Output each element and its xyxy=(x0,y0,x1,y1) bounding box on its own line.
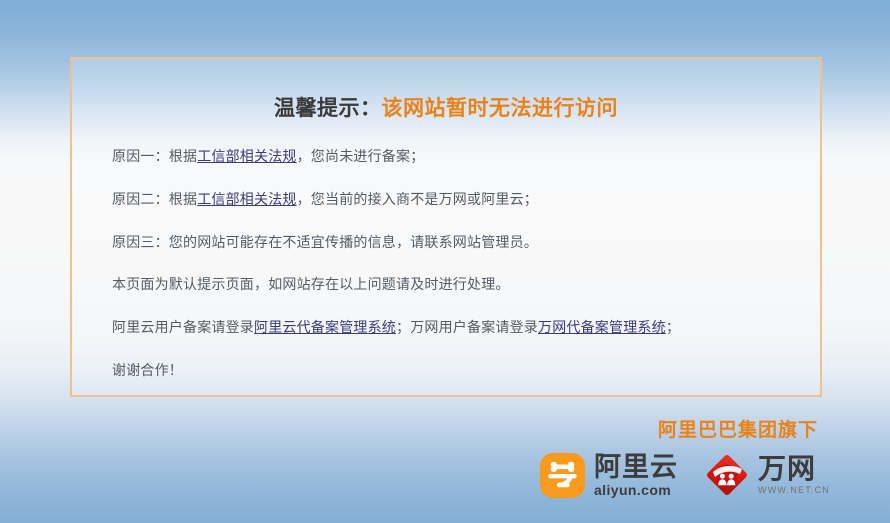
page-title-highlight: 该网站暂时无法进行访问 xyxy=(382,97,619,120)
record-systems-prefix: 阿里云用户备案请登录 xyxy=(112,319,254,335)
wanwang-name-cn: 万网 xyxy=(758,455,830,483)
record-systems-suffix: ； xyxy=(666,319,680,335)
miit-regulations-link-2[interactable]: 工信部相关法规 xyxy=(197,191,296,207)
wanwang-name-en: WWW.NET.CN xyxy=(758,486,830,495)
record-systems-line: 阿里云用户备案请登录阿里云代备案管理系统；万网用户备案请登录万网代备案管理系统； xyxy=(112,319,820,336)
page-root: 温馨提示：该网站暂时无法进行访问 原因一：根据工信部相关法规，您尚未进行备案； … xyxy=(0,0,890,523)
wanwang-record-system-link[interactable]: 万网代备案管理系统 xyxy=(538,319,666,335)
record-systems-middle: ；万网用户备案请登录 xyxy=(396,319,538,335)
default-page-note: 本页面为默认提示页面，如网站存在以上问题请及时进行处理。 xyxy=(112,276,820,293)
aliyun-wordmark: 阿里云 aliyun.com xyxy=(594,454,678,497)
wanwang-logo[interactable]: 万网 WWW.NET.CN xyxy=(704,452,830,498)
reason-two-line: 原因二：根据工信部相关法规，您当前的接入商不是万网或阿里云； xyxy=(112,191,820,208)
reason-three-line: 原因三：您的网站可能存在不适宜传播的信息，请联系网站管理员。 xyxy=(112,234,820,251)
alibaba-group-tag: 阿里巴巴集团旗下 xyxy=(658,415,818,442)
aliyun-cloud-icon xyxy=(540,453,585,498)
reason-one-suffix: ，您尚未进行备案； xyxy=(297,148,425,164)
aliyun-record-system-link[interactable]: 阿里云代备案管理系统 xyxy=(254,319,396,335)
page-title: 温馨提示：该网站暂时无法进行访问 xyxy=(72,92,820,122)
reason-two-suffix: ，您当前的接入商不是万网或阿里云； xyxy=(297,191,538,207)
reason-one-line: 原因一：根据工信部相关法规，您尚未进行备案； xyxy=(112,148,820,165)
aliyun-name-en: aliyun.com xyxy=(594,483,678,497)
thanks-line: 谢谢合作！ xyxy=(112,362,820,379)
aliyun-name-cn: 阿里云 xyxy=(594,454,678,481)
page-title-lead: 温馨提示： xyxy=(274,97,382,120)
notice-box: 温馨提示：该网站暂时无法进行访问 原因一：根据工信部相关法规，您尚未进行备案； … xyxy=(70,57,822,397)
wanwang-wordmark: 万网 WWW.NET.CN xyxy=(758,455,830,495)
reason-one-prefix: 原因一：根据 xyxy=(112,148,197,164)
notice-body: 原因一：根据工信部相关法规，您尚未进行备案； 原因二：根据工信部相关法规，您当前… xyxy=(112,148,820,379)
aliyun-logo[interactable]: 阿里云 aliyun.com xyxy=(540,453,678,498)
reason-two-prefix: 原因二：根据 xyxy=(112,191,197,207)
miit-regulations-link-1[interactable]: 工信部相关法规 xyxy=(197,148,296,164)
footer-logos: 阿里云 aliyun.com xyxy=(540,452,830,498)
wanwang-diamond-icon xyxy=(704,452,750,498)
